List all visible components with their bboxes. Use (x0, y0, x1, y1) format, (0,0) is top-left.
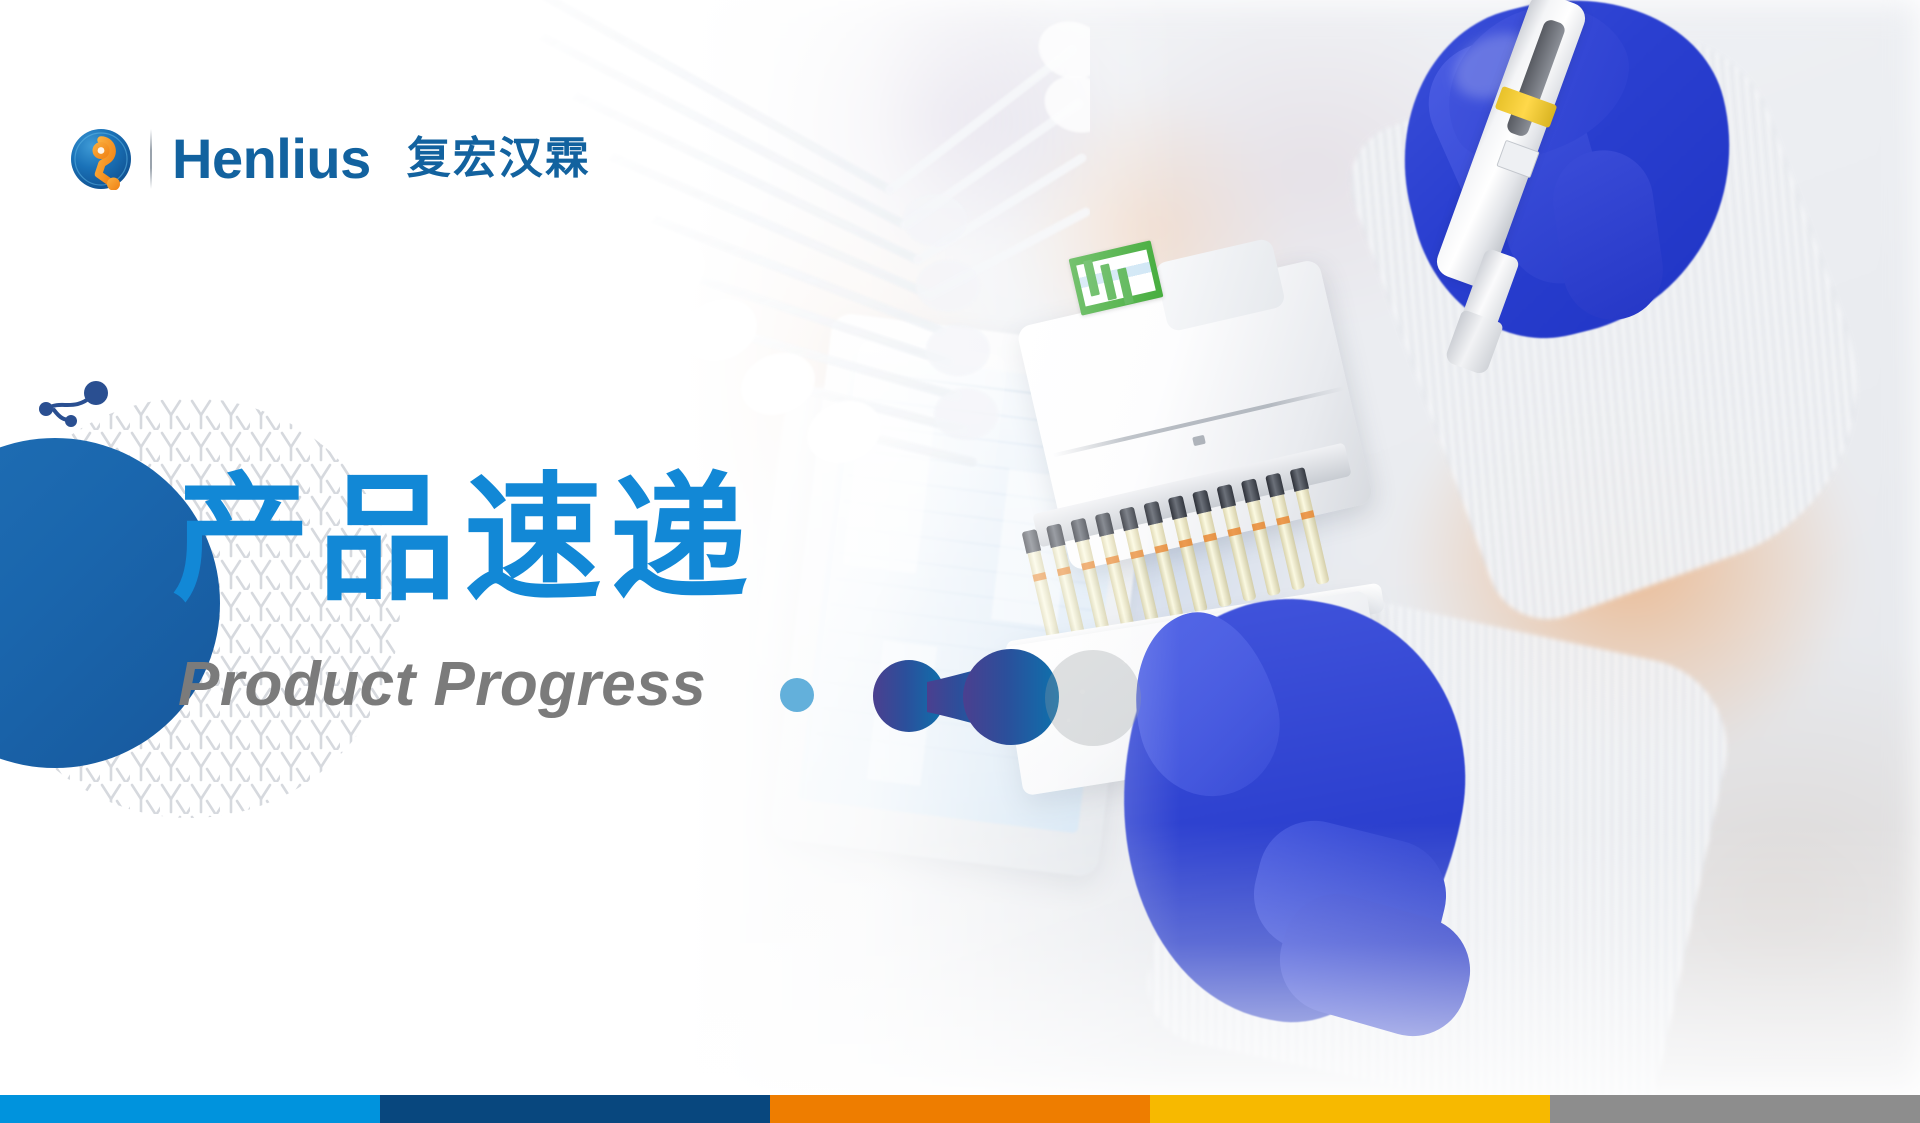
bottom-color-bar (0, 1095, 1920, 1123)
page-title: 产品速递 (172, 468, 756, 613)
bottom-bar-segment-light-blue (0, 1095, 380, 1123)
molecule-dumbbell-decoration-icon (865, 648, 1065, 746)
dna-helix-icon (330, 0, 1090, 530)
henlius-molecule-logo-icon (70, 128, 132, 190)
page-subtitle: Product Progress (178, 654, 706, 716)
brand-name-en: Henlius (172, 131, 371, 187)
light-blue-dot-decoration (780, 678, 814, 712)
bottom-bar-segment-dark-blue (380, 1095, 770, 1123)
brand-logo[interactable]: Henlius 复宏汉霖 (70, 122, 591, 196)
bottom-bar-segment-yellow (1150, 1095, 1550, 1123)
logo-divider (150, 129, 152, 189)
gray-circle-decoration (1045, 650, 1141, 746)
molecule-decoration-icon (30, 378, 120, 438)
bottom-bar-segment-gray (1550, 1095, 1920, 1123)
brand-name-cn: 复宏汉霖 (407, 137, 591, 181)
photo-bottom-fade (690, 823, 1920, 1123)
slide-canvas: Henlius 复宏汉霖 产品速递 Product Progress (0, 0, 1920, 1123)
bottom-bar-segment-orange (770, 1095, 1150, 1123)
